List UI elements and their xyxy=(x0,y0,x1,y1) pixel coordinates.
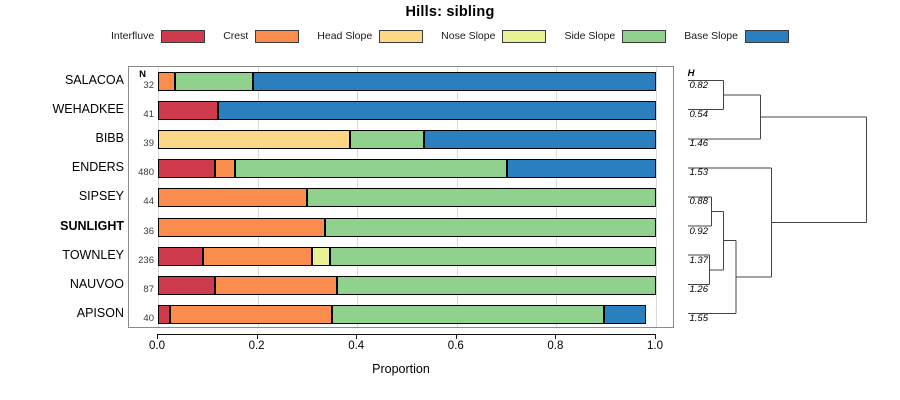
row-n-value: 87 xyxy=(129,284,154,295)
legend-label: Nose Slope xyxy=(441,30,495,42)
bar-segment-crest[interactable] xyxy=(158,188,307,207)
bar-segment-crest[interactable] xyxy=(215,159,235,178)
row-h-value: 1.53 xyxy=(674,167,708,178)
bar-segment-base-slope[interactable] xyxy=(507,159,656,178)
legend-swatch-icon xyxy=(745,30,789,43)
row-n-value: 44 xyxy=(129,196,154,207)
bar-row[interactable]: 236 xyxy=(129,242,673,271)
bar-row[interactable]: 44 xyxy=(129,183,673,212)
row-h-value: 0.88 xyxy=(674,196,708,207)
x-axis-tick xyxy=(257,334,258,339)
x-axis-title: Proportion xyxy=(128,362,674,376)
dendrogram xyxy=(676,66,898,328)
bar-segment-crest[interactable] xyxy=(158,72,175,91)
chart-title: Hills: sibling xyxy=(0,4,900,20)
x-axis-tick xyxy=(456,334,457,339)
legend-swatch-icon xyxy=(255,30,299,43)
stacked-bar-plot-panel: N32413948044362368740 xyxy=(128,66,674,328)
x-axis-tick-label: 0.4 xyxy=(336,340,376,352)
legend-swatch-icon xyxy=(379,30,423,43)
bar-segment-side-slope[interactable] xyxy=(332,305,603,324)
h-column xyxy=(658,67,673,329)
bar-row[interactable]: 39 xyxy=(129,125,673,154)
legend-label: Interfluve xyxy=(111,30,154,42)
h-column-header: H xyxy=(674,68,708,79)
bar-row[interactable]: 87 xyxy=(129,271,673,300)
chart-legend: InterfluveCrestHead SlopeNose SlopeSide … xyxy=(0,26,900,46)
legend-label: Base Slope xyxy=(684,30,738,42)
legend-item-head-slope: Head Slope xyxy=(317,30,423,43)
y-axis-label-salacoa: SALACOA xyxy=(4,73,124,87)
y-axis-label-apison: APISON xyxy=(4,306,124,320)
row-h-value: 0.82 xyxy=(674,80,708,91)
row-n-value: 36 xyxy=(129,226,154,237)
bar-segment-side-slope[interactable] xyxy=(350,130,425,149)
stacked-bar[interactable] xyxy=(158,218,656,237)
bar-segment-interfluve[interactable] xyxy=(158,276,215,295)
x-axis-tick-label: 0.2 xyxy=(237,340,277,352)
row-n-value: 480 xyxy=(129,167,154,178)
row-h-value: 1.55 xyxy=(674,313,708,324)
bar-segment-side-slope[interactable] xyxy=(337,276,656,295)
bar-segment-side-slope[interactable] xyxy=(235,159,506,178)
stacked-bar[interactable] xyxy=(158,188,656,207)
h-values-column: H0.820.541.461.530.880.921.371.261.55 xyxy=(674,66,708,328)
legend-label: Side Slope xyxy=(564,30,615,42)
bar-segment-side-slope[interactable] xyxy=(330,247,656,266)
bar-segment-base-slope[interactable] xyxy=(253,72,656,91)
legend-item-nose-slope: Nose Slope xyxy=(441,30,546,43)
legend-item-base-slope: Base Slope xyxy=(684,30,789,43)
row-h-value: 1.37 xyxy=(674,255,708,266)
x-axis-tick-label: 0.8 xyxy=(535,340,575,352)
x-axis-tick-label: 0.6 xyxy=(436,340,476,352)
y-axis-label-townley: TOWNLEY xyxy=(4,248,124,262)
row-n-value: 32 xyxy=(129,80,154,91)
row-n-value: 41 xyxy=(129,109,154,120)
legend-swatch-icon xyxy=(502,30,546,43)
legend-swatch-icon xyxy=(161,30,205,43)
x-axis-tick xyxy=(555,334,556,339)
bar-segment-interfluve[interactable] xyxy=(158,101,218,120)
row-h-value: 0.54 xyxy=(674,109,708,120)
row-h-value: 0.92 xyxy=(674,226,708,237)
n-column-header: N xyxy=(129,69,156,80)
x-axis-tick xyxy=(356,334,357,339)
y-axis-label-bibb: BIBB xyxy=(4,131,124,145)
legend-label: Crest xyxy=(223,30,248,42)
y-axis-label-nauvoo: NAUVOO xyxy=(4,277,124,291)
legend-label: Head Slope xyxy=(317,30,372,42)
stacked-bar[interactable] xyxy=(158,130,656,149)
bar-segment-crest[interactable] xyxy=(215,276,337,295)
bar-segment-base-slope[interactable] xyxy=(604,305,646,324)
legend-swatch-icon xyxy=(622,30,666,43)
legend-item-crest: Crest xyxy=(223,30,299,43)
bar-row[interactable]: 36 xyxy=(129,213,673,242)
bar-segment-side-slope[interactable] xyxy=(325,218,656,237)
row-n-value: 40 xyxy=(129,313,154,324)
row-n-value: 39 xyxy=(129,138,154,149)
bar-segment-interfluve[interactable] xyxy=(158,159,215,178)
stacked-bar[interactable] xyxy=(158,276,656,295)
bar-segment-crest[interactable] xyxy=(203,247,313,266)
bar-segment-nose-slope[interactable] xyxy=(312,247,329,266)
bar-row[interactable]: 40 xyxy=(129,300,673,329)
legend-item-side-slope: Side Slope xyxy=(564,30,666,43)
bar-segment-base-slope[interactable] xyxy=(424,130,656,149)
bar-row[interactable]: 41 xyxy=(129,96,673,125)
x-axis-tick xyxy=(157,334,158,339)
y-axis-label-sipsey: SIPSEY xyxy=(4,189,124,203)
y-axis-label-enders: ENDERS xyxy=(4,160,124,174)
bar-segment-crest[interactable] xyxy=(158,218,325,237)
stacked-bar[interactable] xyxy=(158,72,656,91)
x-axis-tick xyxy=(655,334,656,339)
stacked-bar[interactable] xyxy=(158,159,656,178)
x-axis-line xyxy=(157,334,655,335)
dendrogram-svg xyxy=(676,66,898,328)
y-axis-category-labels: SALACOAWEHADKEEBIBBENDERSSIPSEYSUNLIGHTT… xyxy=(0,66,124,328)
y-axis-label-wehadkee: WEHADKEE xyxy=(4,102,124,116)
chart-root: Hills: sibling InterfluveCrestHead Slope… xyxy=(0,0,900,400)
stacked-bar[interactable] xyxy=(158,247,656,266)
bar-segment-base-slope[interactable] xyxy=(218,101,656,120)
x-axis-tick-label: 0.0 xyxy=(137,340,177,352)
bar-segment-side-slope[interactable] xyxy=(307,188,656,207)
legend-item-interfluve: Interfluve xyxy=(111,30,205,43)
row-h-value: 1.26 xyxy=(674,284,708,295)
row-n-value: 236 xyxy=(129,255,154,266)
bar-row[interactable]: N32 xyxy=(129,67,673,96)
bar-row[interactable]: 480 xyxy=(129,154,673,183)
row-h-value: 1.46 xyxy=(674,138,708,149)
bar-segment-crest[interactable] xyxy=(170,305,332,324)
bar-segment-interfluve[interactable] xyxy=(158,305,170,324)
bar-segment-side-slope[interactable] xyxy=(175,72,252,91)
stacked-bar[interactable] xyxy=(158,305,656,324)
bar-segment-interfluve[interactable] xyxy=(158,247,203,266)
bar-segment-head-slope[interactable] xyxy=(158,130,350,149)
y-axis-label-sunlight: SUNLIGHT xyxy=(4,219,124,233)
x-axis-tick-label: 1.0 xyxy=(635,340,675,352)
stacked-bar[interactable] xyxy=(158,101,656,120)
